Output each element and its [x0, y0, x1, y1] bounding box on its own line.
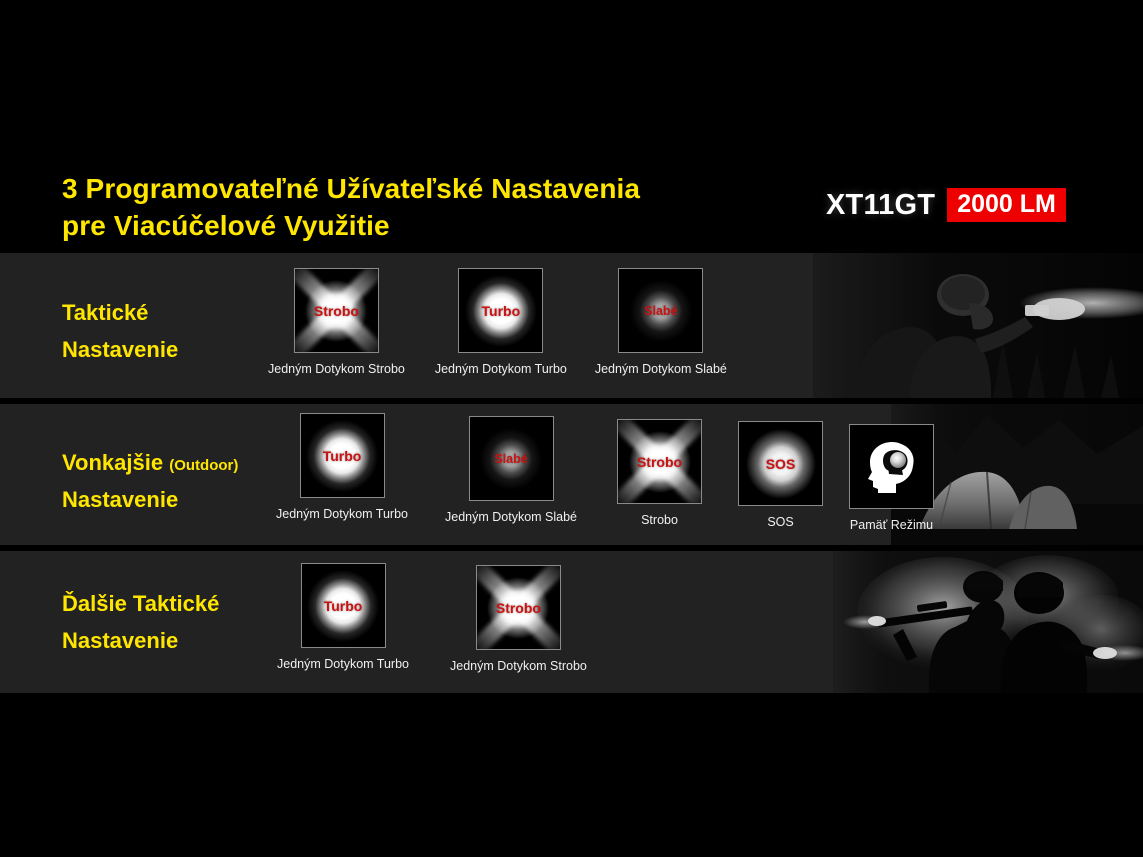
mode-item[interactable]: Pamäť Režimu: [849, 424, 934, 532]
band-label-line2: Nastavenie: [62, 337, 178, 362]
mode-item[interactable]: Strobo Jedným Dotykom Strobo: [450, 565, 587, 673]
mode-tile-turbo[interactable]: Turbo: [301, 563, 386, 648]
mode-tile-turbo[interactable]: Turbo: [458, 268, 543, 353]
tactical-operators-smoke-photo: [833, 551, 1143, 693]
mode-tile-text: Slabé: [470, 452, 553, 466]
mode-tile-strobo[interactable]: Strobo: [617, 419, 702, 504]
mode-tile-text: Strobo: [295, 303, 378, 319]
mode-tile-strobo[interactable]: Strobo: [476, 565, 561, 650]
mode-caption: Jedným Dotykom Turbo: [276, 507, 408, 521]
mode-list-outdoor: Turbo Jedným Dotykom Turbo Slabé Jedným …: [276, 413, 934, 545]
mode-list-extra-tactical: Turbo Jedným Dotykom Turbo Strobo Jedným…: [277, 563, 587, 693]
band-label-line2: Nastavenie: [62, 628, 178, 653]
mode-tile-slabe[interactable]: Slabé: [618, 268, 703, 353]
mode-item[interactable]: Slabé Jedným Dotykom Slabé: [445, 416, 577, 524]
page-title-line-1: 3 Programovateľné Užívateľské Nastavenia: [62, 170, 782, 207]
mode-item[interactable]: SOS SOS: [738, 421, 823, 529]
mode-tile-text: Turbo: [459, 303, 542, 319]
preset-band-extra-tactical: Ďalšie Taktické Nastavenie Turbo Jedným …: [0, 551, 1143, 693]
mode-caption: Jedným Dotykom Strobo: [268, 362, 405, 376]
mode-item[interactable]: Turbo Jedným Dotykom Turbo: [435, 268, 567, 376]
band-label-main: Ďalšie Taktické: [62, 591, 219, 616]
product-badge: XT11GT 2000 LM: [826, 185, 1066, 225]
mode-list-tactical: Strobo Jedným Dotykom Strobo Turbo Jedný…: [268, 268, 727, 398]
page-title-line-2: pre Viacúčelové Využitie: [62, 207, 782, 244]
header: 3 Programovateľné Užívateľské Nastavenia…: [0, 0, 1143, 253]
mode-tile-turbo[interactable]: Turbo: [300, 413, 385, 498]
mode-tile-text: Turbo: [302, 598, 385, 614]
mode-item[interactable]: Strobo Strobo: [617, 419, 702, 527]
band-label-main: Taktické: [62, 300, 148, 325]
mode-caption: Jedným Dotykom Slabé: [445, 510, 577, 524]
mode-tile-memory[interactable]: [849, 424, 934, 509]
mode-caption: Jedným Dotykom Strobo: [450, 659, 587, 673]
mode-item[interactable]: Slabé Jedným Dotykom Slabé: [595, 268, 727, 376]
preset-band-tactical: Taktické Nastavenie Strobo Jedným Dotyko…: [0, 253, 1143, 398]
mode-caption: Jedným Dotykom Turbo: [435, 362, 567, 376]
preset-band-outdoor: Vonkajšie (Outdoor) Nastavenie Turbo Jed…: [0, 404, 1143, 545]
band-label-outdoor: Vonkajšie (Outdoor) Nastavenie: [62, 444, 238, 519]
lumens-badge: 2000 LM: [947, 188, 1066, 221]
mode-caption: Jedným Dotykom Turbo: [277, 657, 409, 671]
soldier-with-flashlight-night-photo: [813, 253, 1143, 398]
mode-caption: SOS: [767, 515, 793, 529]
band-label-line2: Nastavenie: [62, 487, 178, 512]
memory-brain-icon: [862, 437, 922, 497]
mode-caption: Strobo: [641, 513, 678, 527]
band-label-sub: (Outdoor): [169, 457, 238, 474]
mode-tile-text: Strobo: [618, 454, 701, 470]
band-label-main: Vonkajšie: [62, 450, 163, 475]
mode-tile-text: Strobo: [477, 600, 560, 616]
mode-tile-slabe[interactable]: Slabé: [469, 416, 554, 501]
mode-item[interactable]: Turbo Jedným Dotykom Turbo: [276, 413, 408, 521]
mode-caption: Jedným Dotykom Slabé: [595, 362, 727, 376]
mode-item[interactable]: Strobo Jedným Dotykom Strobo: [268, 268, 405, 376]
product-model-name: XT11GT: [826, 189, 935, 222]
mode-caption: Pamäť Režimu: [850, 518, 933, 532]
page-title: 3 Programovateľné Užívateľské Nastavenia…: [62, 170, 782, 244]
band-label-tactical: Taktické Nastavenie: [62, 294, 178, 369]
mode-item[interactable]: Turbo Jedným Dotykom Turbo: [277, 563, 409, 671]
mode-tile-text: SOS: [739, 456, 822, 472]
mode-tile-sos[interactable]: SOS: [738, 421, 823, 506]
mode-tile-text: Slabé: [619, 304, 702, 318]
band-label-extra-tactical: Ďalšie Taktické Nastavenie: [62, 585, 219, 660]
mode-tile-strobo[interactable]: Strobo: [294, 268, 379, 353]
mode-tile-text: Turbo: [301, 448, 384, 464]
